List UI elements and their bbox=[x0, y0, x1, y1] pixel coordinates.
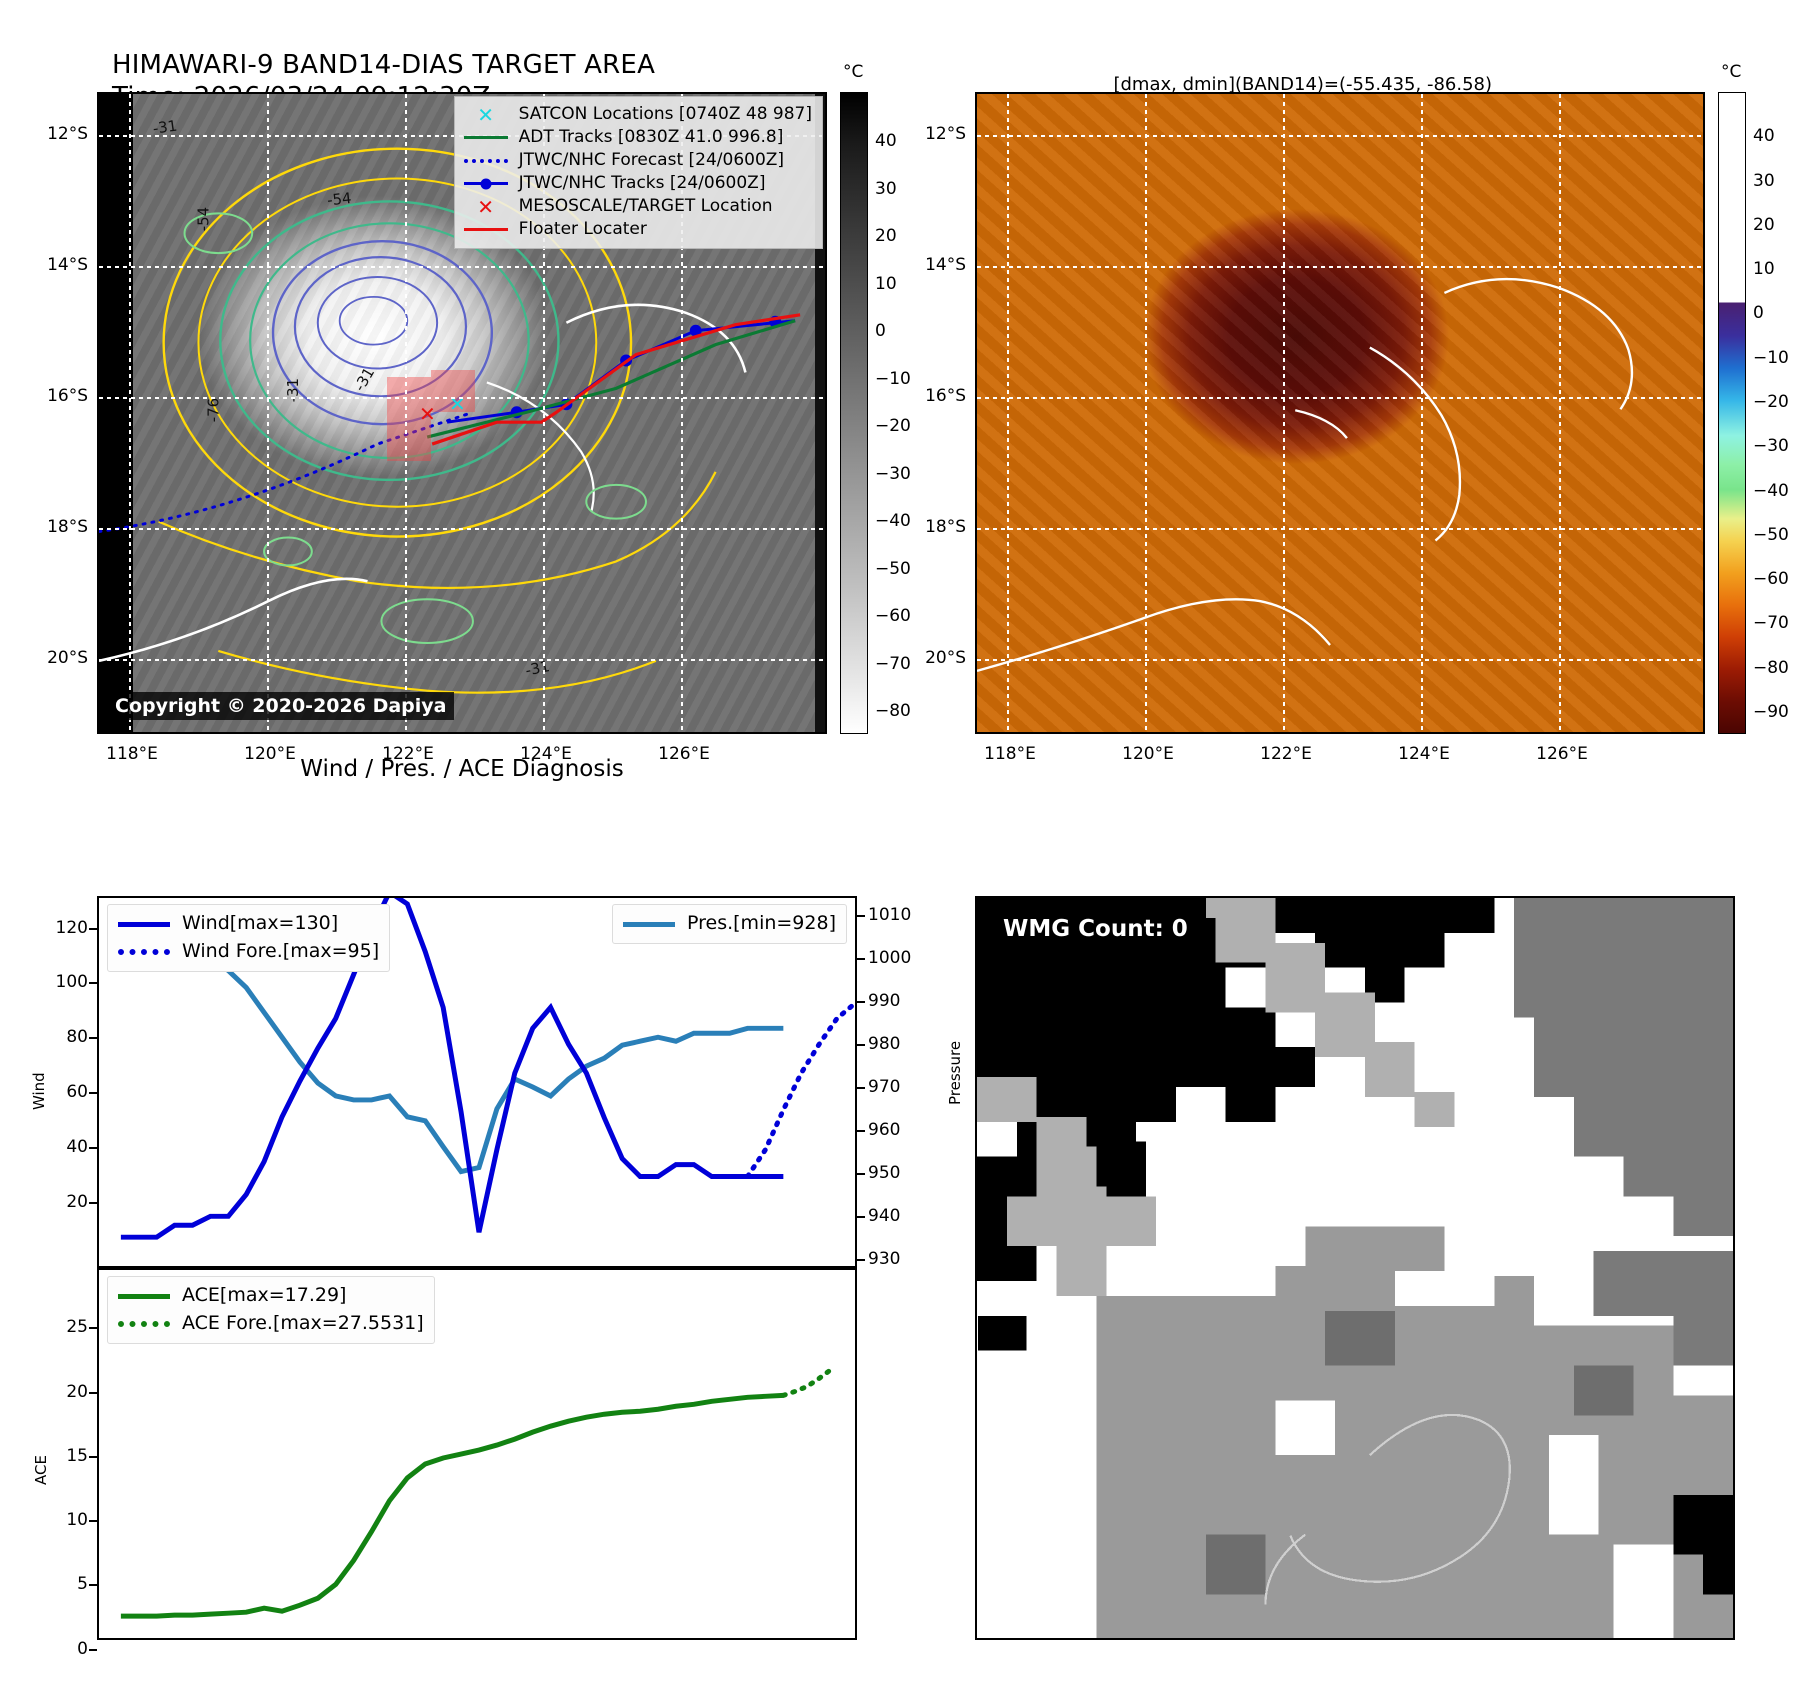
right-colorbar-ticks: 40 30 20 10 0 −10 −20 −30 −40 −50 −60 −7… bbox=[1753, 92, 1797, 734]
legend-item-ace[interactable]: ACE[max=17.29] bbox=[118, 1282, 424, 1310]
mesoscale-target-marker: ✕ bbox=[419, 404, 436, 424]
gridline-lat-14S bbox=[977, 266, 1703, 268]
pressure-tickmark bbox=[857, 958, 865, 960]
pressure-ytick-1010: 1010 bbox=[868, 905, 911, 925]
gridline-lat-16S bbox=[99, 397, 825, 399]
gridline-lat-20S bbox=[977, 659, 1703, 661]
legend-item-adt-tracks[interactable]: ADT Tracks [0830Z 41.0 996.8] bbox=[463, 126, 812, 149]
gridline-lon-120E bbox=[1145, 94, 1147, 732]
wind-ytick-100: 100 bbox=[36, 972, 88, 992]
pressure-axis-label: Pressure bbox=[946, 1041, 964, 1105]
ace-tickmark bbox=[89, 1327, 97, 1329]
gridline-lon-126E bbox=[1559, 94, 1561, 732]
wind-pressure-chart[interactable]: Wind[max=130] Wind Fore.[max=95] Pres.[m… bbox=[97, 896, 857, 1268]
gridline-lat-18S bbox=[977, 528, 1703, 530]
right-map-lon-tick-124E: 124°E bbox=[1384, 744, 1464, 764]
gridline-lat-16S bbox=[977, 397, 1703, 399]
legend-item-ace-forecast[interactable]: ACE Fore.[max=27.5531] bbox=[118, 1310, 424, 1338]
legend-item-wind[interactable]: Wind[max=130] bbox=[118, 910, 379, 938]
ace-ytick-5: 5 bbox=[36, 1574, 88, 1594]
cb-tick: −50 bbox=[1753, 525, 1789, 545]
cb-tick: −70 bbox=[1753, 613, 1789, 633]
right-map-lon-tick-122E: 122°E bbox=[1246, 744, 1326, 764]
ace-ytick-20: 20 bbox=[36, 1382, 88, 1402]
left-colorbar bbox=[840, 92, 868, 734]
legend-label: ACE Fore.[max=27.5531] bbox=[182, 1309, 424, 1338]
pressure-line-icon bbox=[623, 922, 675, 927]
gridline-lon-122E bbox=[405, 94, 407, 732]
pressure-tickmark bbox=[857, 1087, 865, 1089]
left-map-legend: ✕ SATCON Locations [0740Z 48 987] ADT Tr… bbox=[454, 96, 823, 249]
legend-label: Floater Locater bbox=[519, 217, 647, 242]
legend-item-jtwc-tracks[interactable]: JTWC/NHC Tracks [24/0600Z] bbox=[463, 172, 812, 195]
wmg-classification-raster bbox=[977, 898, 1733, 1638]
floater-line-icon bbox=[463, 228, 509, 232]
pressure-ytick-1000: 1000 bbox=[868, 948, 911, 968]
right-map-lat-tick-18S: 18°S bbox=[898, 517, 966, 537]
gridline-lat-12S bbox=[977, 135, 1703, 137]
wind-ytick-60: 60 bbox=[36, 1082, 88, 1102]
left-map-lat-tick-14S: 14°S bbox=[20, 255, 88, 275]
svg-text:-54: -54 bbox=[194, 207, 212, 231]
legend-item-pressure[interactable]: Pres.[min=928] bbox=[623, 910, 836, 938]
copyright-notice: Copyright © 2020-2026 Dapiya bbox=[107, 692, 454, 720]
cb-tick: −90 bbox=[1753, 702, 1789, 722]
pressure-tickmark bbox=[857, 1044, 865, 1046]
right-map-lat-tick-20S: 20°S bbox=[898, 648, 966, 668]
cb-tick: −80 bbox=[875, 701, 911, 721]
left-map-lat-tick-12S: 12°S bbox=[20, 124, 88, 144]
ace-tickmark bbox=[89, 1456, 97, 1458]
legend-item-floater[interactable]: Floater Locater bbox=[463, 218, 812, 241]
right-enhanced-ir-map[interactable] bbox=[975, 92, 1705, 734]
cb-tick: −20 bbox=[1753, 392, 1789, 412]
wind-tickmark bbox=[89, 1202, 97, 1204]
gridline-lat-14S bbox=[99, 266, 825, 268]
ace-ytick-25: 25 bbox=[36, 1317, 88, 1337]
legend-label: MESOSCALE/TARGET Location bbox=[519, 194, 773, 219]
right-colorbar-unit: °C bbox=[1721, 62, 1741, 82]
legend-label: ADT Tracks [0830Z 41.0 996.8] bbox=[519, 125, 784, 150]
diagnosis-title: Wind / Pres. / ACE Diagnosis bbox=[97, 756, 827, 782]
left-colorbar-ticks: 40 30 20 10 0 −10 −20 −30 −40 −50 −60 −7… bbox=[875, 92, 935, 734]
ace-forecast-dotted-icon bbox=[118, 1321, 170, 1327]
wmg-count-label: WMG Count: 0 bbox=[991, 912, 1200, 946]
cb-tick: 30 bbox=[875, 179, 897, 199]
cb-tick: −10 bbox=[1753, 348, 1789, 368]
wmg-panel[interactable]: WMG Count: 0 bbox=[975, 896, 1735, 1640]
wind-ytick-80: 80 bbox=[36, 1027, 88, 1047]
legend-label: SATCON Locations [0740Z 48 987] bbox=[519, 102, 812, 127]
ace-ytick-10: 10 bbox=[36, 1510, 88, 1530]
cb-tick: 20 bbox=[875, 226, 897, 246]
right-map-lon-tick-118E: 118°E bbox=[970, 744, 1050, 764]
cb-tick: −20 bbox=[875, 416, 911, 436]
ace-chart[interactable]: ACE[max=17.29] ACE Fore.[max=27.5531] bbox=[97, 1268, 857, 1640]
right-map-lon-tick-120E: 120°E bbox=[1108, 744, 1188, 764]
ace-tickmark bbox=[89, 1649, 97, 1651]
cb-tick: 10 bbox=[875, 274, 897, 294]
cb-tick: 30 bbox=[1753, 171, 1775, 191]
tracks-line-marker-icon bbox=[463, 182, 509, 186]
gridline-lon-118E bbox=[129, 94, 131, 732]
pressure-tickmark bbox=[857, 1216, 865, 1218]
legend-item-satcon[interactable]: ✕ SATCON Locations [0740Z 48 987] bbox=[463, 103, 812, 126]
gridline-lon-120E bbox=[267, 94, 269, 732]
cb-tick: −30 bbox=[875, 464, 911, 484]
pressure-tickmark bbox=[857, 915, 865, 917]
cb-tick: 20 bbox=[1753, 215, 1775, 235]
left-colorbar-unit: °C bbox=[843, 62, 863, 82]
wind-ytick-20: 20 bbox=[36, 1192, 88, 1212]
adt-line-icon bbox=[463, 136, 509, 140]
legend-label: ACE[max=17.29] bbox=[182, 1281, 346, 1310]
ace-chart-legend: ACE[max=17.29] ACE Fore.[max=27.5531] bbox=[107, 1276, 435, 1344]
cb-tick: −80 bbox=[1753, 658, 1789, 678]
pressure-ytick-940: 940 bbox=[868, 1206, 900, 1226]
gridline-lat-20S bbox=[99, 659, 825, 661]
left-map-lat-tick-18S: 18°S bbox=[20, 517, 88, 537]
left-map-lat-tick-20S: 20°S bbox=[20, 648, 88, 668]
legend-label: Wind Fore.[max=95] bbox=[182, 937, 379, 966]
gridline-lon-118E bbox=[1007, 94, 1009, 732]
satcon-x-icon: ✕ bbox=[463, 105, 509, 125]
ace-series bbox=[121, 1395, 783, 1616]
left-map-lat-tick-16S: 16°S bbox=[20, 386, 88, 406]
wind-tickmark bbox=[89, 1037, 97, 1039]
legend-item-jtwc-forecast[interactable]: JTWC/NHC Forecast [24/0600Z] bbox=[463, 149, 812, 172]
wind-chart-legend-left: Wind[max=130] Wind Fore.[max=95] bbox=[107, 904, 390, 972]
gridline-lon-122E bbox=[1283, 94, 1285, 732]
cb-tick: −30 bbox=[1753, 436, 1789, 456]
wind-line-icon bbox=[118, 922, 170, 927]
pressure-ytick-980: 980 bbox=[868, 1034, 900, 1054]
right-map-lat-tick-16S: 16°S bbox=[898, 386, 966, 406]
ace-tickmark bbox=[89, 1520, 97, 1522]
legend-label: Wind[max=130] bbox=[182, 909, 338, 938]
forecast-dotted-icon bbox=[463, 159, 509, 163]
pressure-ytick-950: 950 bbox=[868, 1163, 900, 1183]
wind-chart-legend-right: Pres.[min=928] bbox=[612, 904, 847, 944]
cb-tick: 10 bbox=[1753, 259, 1775, 279]
ace-forecast-series bbox=[783, 1369, 831, 1395]
wind-ytick-120: 120 bbox=[36, 918, 88, 938]
wind-forecast-dotted-icon bbox=[118, 949, 170, 955]
cb-tick: −40 bbox=[1753, 481, 1789, 501]
legend-label: JTWC/NHC Forecast [24/0600Z] bbox=[519, 148, 784, 173]
pressure-ytick-930: 930 bbox=[868, 1249, 900, 1269]
pressure-tickmark bbox=[857, 1130, 865, 1132]
pressure-tickmark bbox=[857, 1001, 865, 1003]
ace-tickmark bbox=[89, 1392, 97, 1394]
svg-text:-76: -76 bbox=[204, 398, 222, 422]
svg-text:-54: -54 bbox=[326, 189, 352, 209]
wind-tickmark bbox=[89, 928, 97, 930]
pressure-tickmark bbox=[857, 1173, 865, 1175]
right-colorbar bbox=[1718, 92, 1746, 734]
legend-item-wind-forecast[interactable]: Wind Fore.[max=95] bbox=[118, 938, 379, 966]
cb-tick: −60 bbox=[875, 606, 911, 626]
wind-tickmark bbox=[89, 1092, 97, 1094]
gridline-lon-124E bbox=[1421, 94, 1423, 732]
legend-label: JTWC/NHC Tracks [24/0600Z] bbox=[519, 171, 766, 196]
wind-ytick-40: 40 bbox=[36, 1137, 88, 1157]
ace-line-icon bbox=[118, 1294, 170, 1299]
right-map-lon-tick-126E: 126°E bbox=[1522, 744, 1602, 764]
right-map-lat-tick-12S: 12°S bbox=[898, 124, 966, 144]
cb-tick: 40 bbox=[875, 131, 897, 151]
legend-item-mesoscale[interactable]: ✕ MESOSCALE/TARGET Location bbox=[463, 195, 812, 218]
wind-tickmark bbox=[89, 982, 97, 984]
right-map-coastlines bbox=[977, 94, 1703, 732]
pressure-ytick-990: 990 bbox=[868, 991, 900, 1011]
cb-tick: 0 bbox=[1753, 303, 1764, 323]
cb-tick: 0 bbox=[875, 321, 886, 341]
ace-tickmark bbox=[89, 1584, 97, 1586]
pressure-ytick-960: 960 bbox=[868, 1120, 900, 1140]
cb-tick: −60 bbox=[1753, 569, 1789, 589]
cb-tick: 40 bbox=[1753, 126, 1775, 146]
pressure-ytick-970: 970 bbox=[868, 1077, 900, 1097]
ace-ytick-15: 15 bbox=[36, 1446, 88, 1466]
wind-tickmark bbox=[89, 1147, 97, 1149]
gridline-lat-18S bbox=[99, 528, 825, 530]
pressure-tickmark bbox=[857, 1259, 865, 1261]
legend-label: Pres.[min=928] bbox=[687, 909, 836, 938]
left-ir-map[interactable]: -31 -54 -54 -76 -31 -31 -31 ✕ ✕ ✕ bbox=[97, 92, 827, 734]
right-map-lat-tick-14S: 14°S bbox=[898, 255, 966, 275]
mesoscale-x-icon: ✕ bbox=[463, 197, 509, 217]
ace-ytick-0: 0 bbox=[36, 1639, 88, 1659]
cb-tick: −50 bbox=[875, 559, 911, 579]
